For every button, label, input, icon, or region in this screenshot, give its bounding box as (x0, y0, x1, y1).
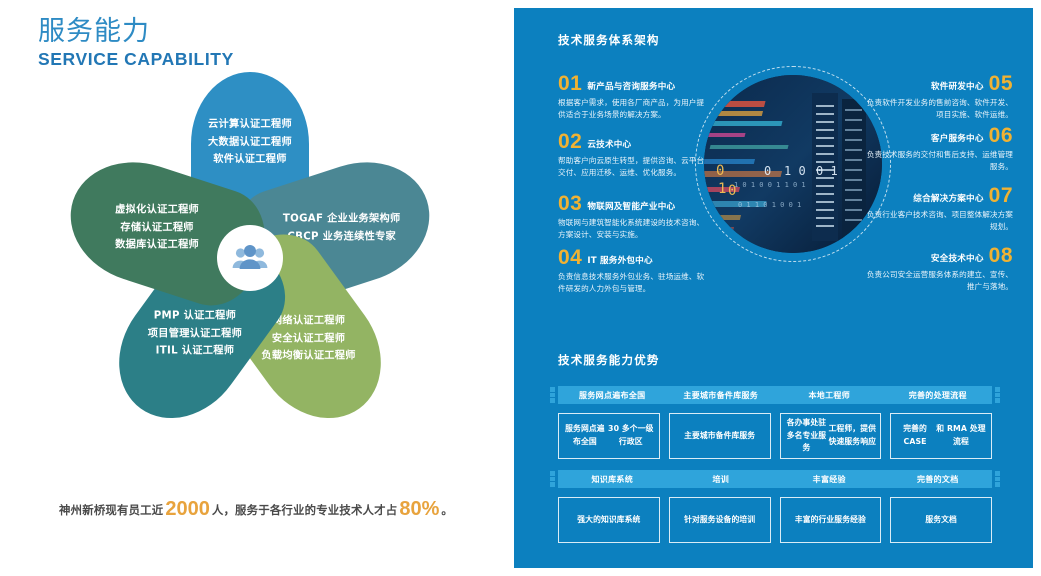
svg-text:0: 0 (764, 164, 771, 178)
svg-text:1: 1 (718, 181, 726, 197)
svg-text:1 0 1 0 0 1 1 0 1: 1 0 1 0 0 1 1 0 1 (734, 181, 806, 189)
people-group-icon (231, 244, 269, 272)
petal-label: 虚拟化认证工程师 存储认证工程师 数据库认证工程师 (98, 201, 216, 254)
notch-decoration-left (550, 387, 555, 403)
petal-line: 项目管理认证工程师 (136, 325, 254, 343)
petal-label: PMP 认证工程师 项目管理认证工程师 ITIL 认证工程师 (136, 307, 254, 360)
svg-text:0 1: 0 1 (816, 164, 838, 178)
architecture-section-title: 技术服务体系架构 (558, 32, 660, 48)
arch-item-body: 负责软件开发业务的售前咨询、软件开发、项目实施、软件运维。 (863, 97, 1013, 122)
arch-item-number: 06 (989, 126, 1013, 146)
advantage-table-2: 知识库系统 培训 丰富经验 完善的文档 强大的知识库系统 针对服务设备的培训 丰… (558, 470, 992, 543)
arch-item-01[interactable]: 01 新产品与咨询服务中心 根据客户需求，使用各厂商产品，为用户提供适合于业务场… (558, 74, 708, 122)
advantage-header: 完善的处理流程 (884, 390, 993, 401)
petal-line: PMP 认证工程师 (136, 307, 254, 325)
right-panel: 技术服务体系架构 (514, 8, 1033, 568)
petal-line: 存储认证工程师 (98, 219, 216, 237)
advantage-header: 丰富经验 (775, 474, 884, 485)
title-chinese: 服务能力 (38, 16, 234, 47)
arch-item-number: 07 (989, 186, 1013, 206)
data-center-image: 010 01 00 1 1 0 1 0 0 1 1 0 1 0 1 1 0 1 … (704, 75, 882, 253)
petal-line: 大数据认证工程师 (191, 134, 309, 152)
advantage-card[interactable]: 服务文档 (890, 497, 992, 543)
arch-item-05[interactable]: 05 软件研发中心 负责软件开发业务的售前咨询、软件开发、项目实施、软件运维。 (863, 74, 1013, 122)
arch-item-header: 04 IT 服务外包中心 (558, 248, 708, 268)
arch-item-03[interactable]: 03 物联网及智能产业中心 物联网与建筑智能化系统建设的技术咨询、方案设计、安装… (558, 194, 708, 242)
arch-item-02[interactable]: 02 云技术中心 帮助客户向云原生转型，提供咨询、云平台交付、应用迁移、运维、优… (558, 132, 708, 180)
arch-item-heading: 云技术中心 (587, 138, 631, 152)
arch-item-06[interactable]: 06 客户服务中心 负责技术服务的交付和售后支持、运维管理服务。 (863, 126, 1013, 174)
petal-diagram: 云计算认证工程师 大数据认证工程师 软件认证工程师 TOGAF 企业业务架构师 … (40, 88, 460, 428)
arch-item-body: 负责信息技术服务外包业务、驻场运维、软件研发的人力外包与管理。 (558, 271, 708, 296)
petal-line: 软件认证工程师 (191, 151, 309, 169)
advantage-card[interactable]: 强大的知识库系统 (558, 497, 660, 543)
arch-item-header: 06 客户服务中心 (863, 126, 1013, 146)
notch-decoration-left (550, 471, 555, 487)
arch-item-number: 04 (558, 248, 582, 268)
petal-line: TOGAF 企业业务架构师 (283, 211, 401, 229)
advantage-header: 主要城市备件库服务 (667, 390, 776, 401)
slide-page: 服务能力 SERVICE CAPABILITY 云计算认证工程师 大数据认证工程… (0, 0, 1041, 576)
advantage-card[interactable]: 服务网点遍布全国30 多个一级行政区 (558, 413, 660, 459)
arch-item-header: 08 安全技术中心 (863, 246, 1013, 266)
arch-item-number: 08 (989, 246, 1013, 266)
advantage-header: 本地工程师 (775, 390, 884, 401)
arch-item-header: 05 软件研发中心 (863, 74, 1013, 94)
svg-text:0: 0 (716, 163, 724, 179)
left-panel: 服务能力 SERVICE CAPABILITY 云计算认证工程师 大数据认证工程… (0, 0, 512, 576)
arch-item-heading: 综合解决方案中心 (913, 192, 983, 206)
arch-item-header: 07 综合解决方案中心 (863, 186, 1013, 206)
arch-item-number: 01 (558, 74, 582, 94)
caption-part-1: 神州新桥现有员工近 (59, 503, 163, 517)
advantage-card[interactable]: 各办事处驻多名专业服务工程师，提供快速服务响应 (780, 413, 882, 459)
summary-caption: 神州新桥现有员工近2000人，服务于各行业的专业技术人才占80%。 (0, 498, 512, 521)
petal-label: 云计算认证工程师 大数据认证工程师 软件认证工程师 (191, 116, 309, 169)
caption-part-3: 。 (441, 503, 453, 517)
advantage-header: 服务网点遍布全国 (558, 390, 667, 401)
arch-item-heading: 物联网及智能产业中心 (587, 200, 675, 214)
title-english: SERVICE CAPABILITY (38, 49, 234, 70)
notch-decoration-right (995, 387, 1000, 403)
svg-text:1 0: 1 0 (784, 164, 806, 178)
petal-line: 负载均衡认证工程师 (250, 347, 368, 365)
arch-item-heading: 安全技术中心 (931, 252, 984, 266)
arch-item-heading: IT 服务外包中心 (587, 254, 652, 268)
arch-item-heading: 软件研发中心 (931, 80, 984, 94)
arch-item-number: 03 (558, 194, 582, 214)
page-title: 服务能力 SERVICE CAPABILITY (38, 16, 234, 70)
arch-item-header: 02 云技术中心 (558, 132, 708, 152)
arch-item-number: 05 (989, 74, 1013, 94)
advantages-section-title: 技术服务能力优势 (558, 352, 660, 368)
arch-item-heading: 客户服务中心 (931, 132, 984, 146)
notch-decoration-right (995, 471, 1000, 487)
arch-item-number: 02 (558, 132, 582, 152)
petal-line: 云计算认证工程师 (191, 116, 309, 134)
advantage-header-bar: 知识库系统 培训 丰富经验 完善的文档 (558, 470, 992, 488)
arch-item-body: 负责技术服务的交付和售后支持、运维管理服务。 (863, 149, 1013, 174)
arch-item-body: 物联网与建筑智能化系统建设的技术咨询、方案设计、安装与实施。 (558, 217, 708, 242)
arch-item-04[interactable]: 04 IT 服务外包中心 负责信息技术服务外包业务、驻场运维、软件研发的人力外包… (558, 248, 708, 296)
advantage-card[interactable]: 完善的 CASE和 RMA 处理流程 (890, 413, 992, 459)
arch-item-header: 01 新产品与咨询服务中心 (558, 74, 708, 94)
arch-item-body: 负责公司安全运营服务体系的建立、宣传、推广与落地。 (863, 269, 1013, 294)
arch-item-08[interactable]: 08 安全技术中心 负责公司安全运营服务体系的建立、宣传、推广与落地。 (863, 246, 1013, 294)
advantage-header: 知识库系统 (558, 474, 667, 485)
advantage-header: 完善的文档 (884, 474, 993, 485)
hero-image-circle: 010 01 00 1 1 0 1 0 0 1 1 0 1 0 1 1 0 1 … (695, 66, 891, 262)
advantage-card[interactable]: 丰富的行业服务经验 (780, 497, 882, 543)
arch-item-body: 帮助客户向云原生转型，提供咨询、云平台交付、应用迁移、运维、优化服务。 (558, 155, 708, 180)
advantage-header-bar: 服务网点遍布全国 主要城市备件库服务 本地工程师 完善的处理流程 (558, 386, 992, 404)
petal-line: 虚拟化认证工程师 (98, 201, 216, 219)
caption-part-2: 人，服务于各行业的专业技术人才占 (212, 503, 397, 517)
arch-item-body: 根据客户需求，使用各厂商产品，为用户提供适合于业务场景的解决方案。 (558, 97, 708, 122)
diagram-center-hub (217, 225, 283, 291)
arch-item-body: 负责行业客户技术咨询、项目整体解决方案规划。 (863, 209, 1013, 234)
advantage-card-row: 强大的知识库系统 针对服务设备的培训 丰富的行业服务经验 服务文档 (558, 497, 992, 543)
arch-item-header: 03 物联网及智能产业中心 (558, 194, 708, 214)
advantage-header: 培训 (667, 474, 776, 485)
arch-item-heading: 新产品与咨询服务中心 (587, 80, 675, 94)
advantage-table-1: 服务网点遍布全国 主要城市备件库服务 本地工程师 完善的处理流程 服务网点遍布全… (558, 386, 992, 459)
caption-highlight-employees: 2000 (163, 498, 212, 520)
advantage-card[interactable]: 主要城市备件库服务 (669, 413, 771, 459)
petal-line: 数据库认证工程师 (98, 237, 216, 255)
advantage-card[interactable]: 针对服务设备的培训 (669, 497, 771, 543)
petal-line: ITIL 认证工程师 (136, 343, 254, 361)
svg-text:0 1 1 0 1 0 0 1: 0 1 1 0 1 0 0 1 (738, 201, 801, 209)
arch-item-07[interactable]: 07 综合解决方案中心 负责行业客户技术咨询、项目整体解决方案规划。 (863, 186, 1013, 234)
advantage-card-row: 服务网点遍布全国30 多个一级行政区 主要城市备件库服务 各办事处驻多名专业服务… (558, 413, 992, 459)
caption-highlight-percent: 80% (397, 498, 441, 520)
